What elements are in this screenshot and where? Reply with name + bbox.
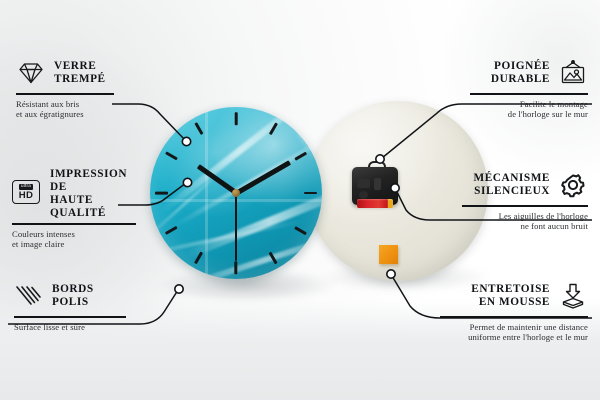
glass-gloss — [150, 107, 290, 227]
feature-divider — [462, 205, 588, 207]
feature-header: ENTRETOISE EN MOUSSE — [440, 279, 588, 313]
foam-spacer — [379, 245, 398, 264]
feature-title: POIGNÉE DURABLE — [491, 60, 550, 86]
feature-divider — [14, 316, 126, 318]
feature-header: ultra HD IMPRESSION DE HAUTE QUALITÉ — [12, 168, 136, 220]
feature-verre-trempe: VERRE TREMPÉ Résistant aux bris et aux é… — [16, 56, 114, 119]
feature-subtitle: de l'horloge sur le mur — [470, 109, 588, 119]
ultra-hd-main-label: HD — [19, 191, 33, 201]
feature-subtitle: Surface lisse et sûre — [14, 322, 126, 332]
hour-marker — [165, 226, 178, 235]
feature-subtitle: Permet de maintenir une distance — [440, 322, 588, 332]
feature-subtitle: et image claire — [12, 239, 136, 249]
feature-subtitle: uniforme entre l'horloge et le mur — [440, 332, 588, 342]
mechanism-detail — [359, 191, 368, 199]
feature-subtitle: Couleurs intenses — [12, 229, 136, 239]
feature-divider — [12, 223, 136, 225]
ultra-hd-icon: ultra HD — [12, 180, 42, 208]
feature-title: VERRE TREMPÉ — [54, 60, 106, 86]
battery — [357, 199, 393, 208]
center-cap — [232, 189, 240, 197]
feature-header: MÉCANISME SILENCIEUX — [462, 168, 588, 202]
feature-entretoise-en-mousse: ENTRETOISE EN MOUSSE Permet de maintenir… — [440, 279, 588, 342]
wall-clock-back — [308, 101, 488, 281]
hour-marker — [294, 226, 307, 235]
feature-divider — [440, 316, 588, 318]
feature-divider — [16, 93, 114, 95]
feature-impression-haute-qualite: ultra HD IMPRESSION DE HAUTE QUALITÉ Cou… — [12, 168, 136, 249]
mechanism-detail — [357, 179, 370, 188]
feature-subtitle: Facilite le montage — [470, 99, 588, 109]
picture-hanger-icon — [558, 59, 588, 87]
infographic-canvas: VERRE TREMPÉ Résistant aux bris et aux é… — [0, 0, 600, 400]
foam-spacer-icon — [558, 282, 588, 310]
mechanism-body — [352, 167, 398, 205]
feature-subtitle: Résistant aux bris — [16, 99, 114, 109]
feature-poignee-durable: POIGNÉE DURABLE Facilite le montage de l… — [470, 56, 588, 119]
feature-mecanisme-silencieux: MÉCANISME SILENCIEUX Les aiguilles de l'… — [462, 168, 588, 231]
diamond-icon — [16, 59, 46, 87]
clock-mechanism — [352, 161, 398, 205]
feature-header: BORDS POLIS — [14, 279, 126, 313]
mechanism-detail — [374, 178, 381, 190]
ultra-hd-small-label: ultra — [19, 184, 33, 190]
hour-marker — [235, 112, 238, 125]
feature-title: IMPRESSION DE HAUTE QUALITÉ — [50, 168, 136, 220]
feature-title: BORDS POLIS — [52, 283, 94, 309]
second-hand — [235, 193, 237, 261]
feature-title: ENTRETOISE EN MOUSSE — [471, 283, 550, 309]
feature-subtitle: et aux égratignures — [16, 109, 114, 119]
feature-divider — [470, 93, 588, 95]
feature-subtitle: Les aiguilles de l'horloge — [462, 211, 588, 221]
hour-marker — [155, 192, 168, 195]
wall-clock-front — [150, 107, 322, 279]
feature-subtitle: ne font aucun bruit — [462, 221, 588, 231]
polished-edge-icon — [14, 282, 44, 310]
hour-marker — [235, 261, 238, 274]
feature-title: MÉCANISME SILENCIEUX — [474, 172, 551, 198]
feature-header: POIGNÉE DURABLE — [470, 56, 588, 90]
feature-header: VERRE TREMPÉ — [16, 56, 114, 90]
feature-bords-polis: BORDS POLIS Surface lisse et sûre — [14, 279, 126, 332]
hour-marker — [304, 192, 317, 195]
gear-icon — [558, 171, 588, 199]
